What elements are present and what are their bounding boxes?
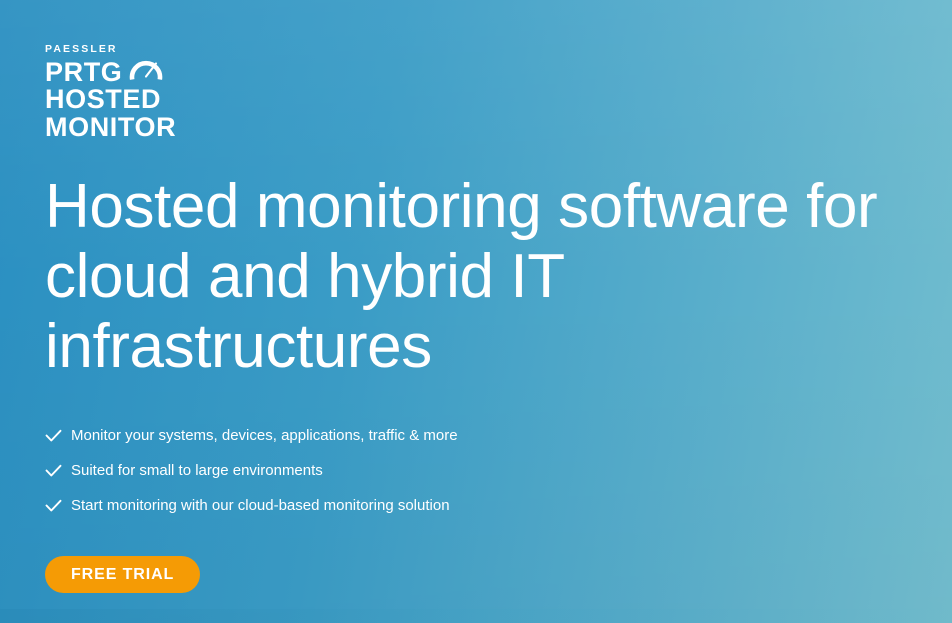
check-icon <box>45 429 62 443</box>
logo-wordmark: PRTG HOSTED MONITOR <box>45 59 176 142</box>
paessler-prtg-logo[interactable]: PAESSLER PRTG HOSTED MONITOR <box>45 44 176 141</box>
logo-row-hosted: HOSTED <box>45 86 176 114</box>
logo-eyebrow: PAESSLER <box>45 44 176 55</box>
logo-word-prtg: PRTG <box>45 59 122 87</box>
list-item-label: Monitor your systems, devices, applicati… <box>71 427 458 446</box>
logo-word-hosted: HOSTED <box>45 86 161 114</box>
check-icon <box>45 464 62 478</box>
logo-word-monitor: MONITOR <box>45 114 176 142</box>
list-item: Monitor your systems, devices, applicati… <box>45 427 458 446</box>
free-trial-button[interactable]: FREE TRIAL <box>45 556 200 593</box>
feature-list: Monitor your systems, devices, applicati… <box>45 427 458 515</box>
logo-row-prtg: PRTG <box>45 59 176 87</box>
list-item-label: Start monitoring with our cloud-based mo… <box>71 497 450 516</box>
logo-row-monitor: MONITOR <box>45 114 176 142</box>
page-title: Hosted monitoring software for cloud and… <box>45 172 905 382</box>
gauge-icon <box>129 55 163 85</box>
list-item-label: Suited for small to large environments <box>71 462 323 481</box>
check-icon <box>45 499 62 513</box>
hero-banner: PAESSLER PRTG HOSTED MONITOR Hosted moni… <box>0 0 952 623</box>
list-item: Start monitoring with our cloud-based mo… <box>45 497 458 516</box>
list-item: Suited for small to large environments <box>45 462 458 481</box>
hero-bottom-band <box>0 609 952 623</box>
